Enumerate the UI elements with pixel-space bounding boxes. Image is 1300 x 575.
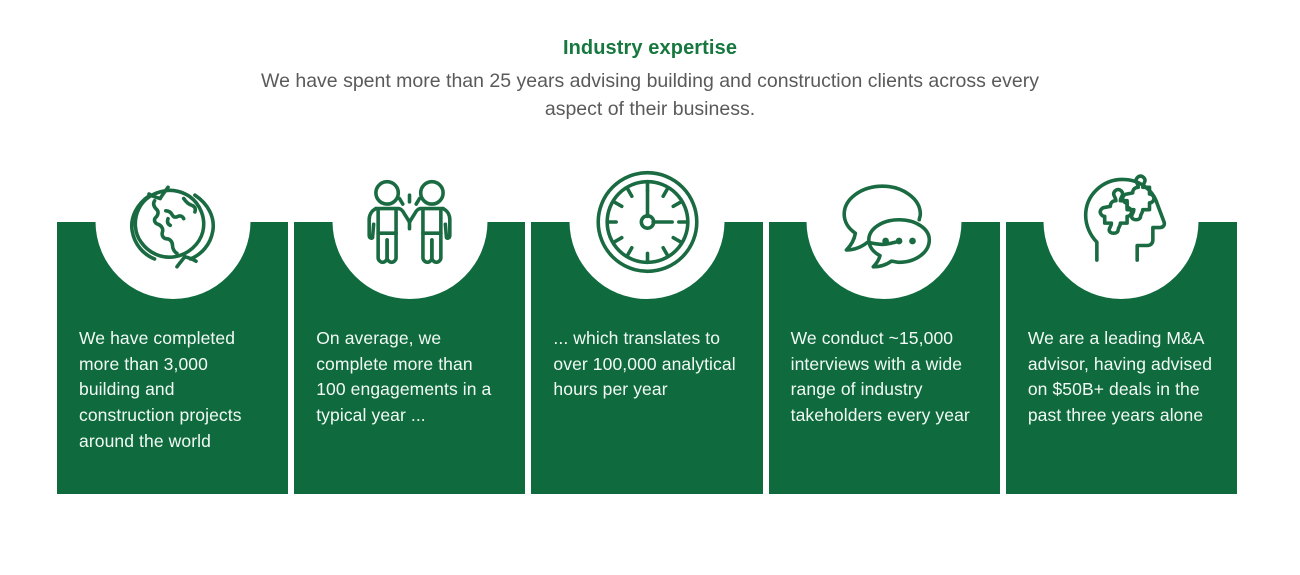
- infographic-page: Industry expertise We have spent more th…: [0, 0, 1300, 575]
- head-puzzle-icon: [1065, 166, 1177, 278]
- page-subtitle: We have spent more than 25 years advisin…: [250, 68, 1050, 123]
- stat-card: On average, we complete more than 100 en…: [294, 222, 525, 494]
- icon-bubble: [570, 144, 725, 299]
- header: Industry expertise We have spent more th…: [0, 36, 1300, 123]
- stat-card: We are a leading M&A advisor, having adv…: [1006, 222, 1237, 494]
- icon-bubble: [807, 144, 962, 299]
- card-text: ... which translates to over 100,000 ana…: [553, 326, 742, 403]
- stat-card: We conduct ~15,000 interviews with a wid…: [769, 222, 1000, 494]
- card-text: We conduct ~15,000 interviews with a wid…: [791, 326, 980, 429]
- page-title: Industry expertise: [0, 36, 1300, 60]
- icon-bubble: [332, 144, 487, 299]
- icon-bubble: [1044, 144, 1199, 299]
- card-text: On average, we complete more than 100 en…: [316, 326, 505, 429]
- stat-cards-row: We have completed more than 3,000 buildi…: [57, 222, 1237, 494]
- stat-card: ... which translates to over 100,000 ana…: [531, 222, 762, 494]
- globe-arrows-icon: [117, 166, 229, 278]
- card-text: We are a leading M&A advisor, having adv…: [1028, 326, 1217, 429]
- clock-icon: [591, 166, 703, 278]
- handshake-people-icon: [354, 166, 466, 278]
- card-text: We have completed more than 3,000 buildi…: [79, 326, 268, 455]
- stat-card: We have completed more than 3,000 buildi…: [57, 222, 288, 494]
- icon-bubble: [95, 144, 250, 299]
- speech-bubbles-icon: [828, 166, 940, 278]
